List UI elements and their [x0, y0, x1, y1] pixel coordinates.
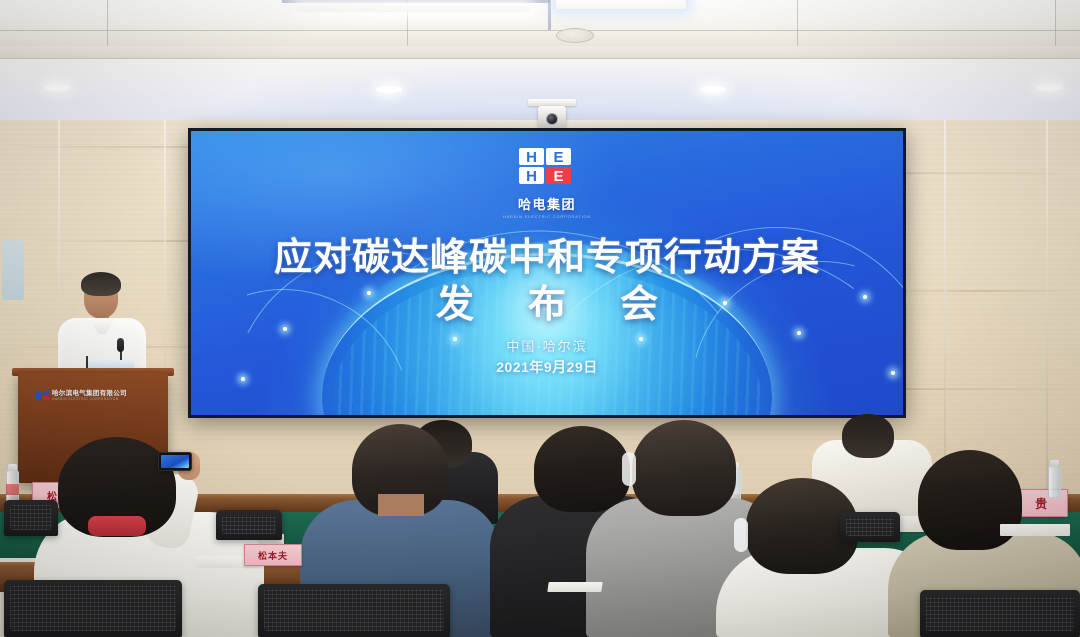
network-node: [797, 331, 801, 335]
chair-front-mid[interactable]: [258, 584, 450, 637]
camera-lens-icon: [546, 113, 558, 125]
namecard-front-left-text: 松本夫: [258, 549, 288, 562]
logo-letter-h: H: [519, 149, 544, 166]
ceiling-light-strip: [296, 3, 530, 12]
wall-panel-accent: [2, 240, 24, 300]
chair-front-left[interactable]: [4, 580, 182, 637]
ceiling-vent: [556, 28, 594, 43]
document-front-right: [547, 582, 602, 592]
ceiling-edge: [0, 46, 1080, 59]
bottle-cap-right: [1050, 460, 1059, 467]
phone-screen: [161, 455, 189, 468]
screen-company-name-en: HARBIN ELECTRIC CORPORATION: [191, 214, 903, 219]
attendee-5-mask-strap: [734, 518, 748, 552]
speaker-hair: [81, 272, 121, 296]
screen-location: 中国·哈尔滨: [191, 336, 903, 355]
screen-title-line2: 发布会: [191, 273, 903, 328]
wall-seam-4: [1046, 120, 1048, 520]
microphone-head-1: [117, 338, 124, 352]
namecard-front-left: 松本夫: [244, 544, 302, 566]
logo-letter-e2: E: [546, 168, 571, 185]
document-mid-right: [1000, 524, 1070, 536]
downlight-far-right: [1036, 84, 1062, 91]
chair-mid-center[interactable]: [216, 510, 282, 540]
led-display-screen[interactable]: H E H E 哈电集团 HARBIN ELECTRIC CORPORATION…: [188, 128, 906, 418]
he-logo-icon: H E H E: [519, 148, 575, 188]
conference-room-photo: H E H E 哈电集团 HARBIN ELECTRIC CORPORATION…: [0, 0, 1080, 637]
podium-logo-icon: [36, 391, 49, 401]
podium-company-en: HARBIN ELECTRIC CORPORATION: [52, 398, 127, 401]
attendee-2-neck: [378, 494, 424, 516]
logo-letter-h2: H: [519, 168, 544, 185]
downlight-left: [44, 84, 70, 91]
smartphone-recording[interactable]: [158, 452, 192, 471]
attendee-4-mask-strap: [622, 452, 636, 486]
attendee-4-head: [632, 420, 736, 516]
screen-date: 2021年9月29日: [191, 357, 903, 377]
chair-mid-left[interactable]: [4, 500, 58, 536]
attendee-3-head: [534, 426, 630, 512]
bottle-cap-left: [8, 464, 17, 471]
camera-mount-bracket: [528, 99, 576, 106]
bottle-label-left: [6, 484, 19, 495]
ceiling: [0, 0, 1080, 46]
downlight-right: [700, 86, 726, 93]
screen-company-name-cn: 哈电集团: [191, 194, 903, 213]
podium-nameplate: 哈尔滨电气集团有限公司 HARBIN ELECTRIC CORPORATION: [36, 389, 156, 403]
water-bottle-right: [1048, 466, 1061, 498]
chair-front-right[interactable]: [920, 590, 1080, 637]
logo-letter-e: E: [546, 149, 571, 166]
network-node: [241, 377, 245, 381]
chair-mid-right[interactable]: [840, 512, 900, 542]
screen-logo-block: H E H E 哈电集团 HARBIN ELECTRIC CORPORATION: [191, 148, 903, 219]
attendee-1-scarf: [88, 516, 146, 536]
ceiling-light-strip-right: [556, 0, 686, 9]
downlight-mid: [376, 86, 402, 93]
screen-content: H E H E 哈电集团 HARBIN ELECTRIC CORPORATION…: [191, 131, 903, 415]
